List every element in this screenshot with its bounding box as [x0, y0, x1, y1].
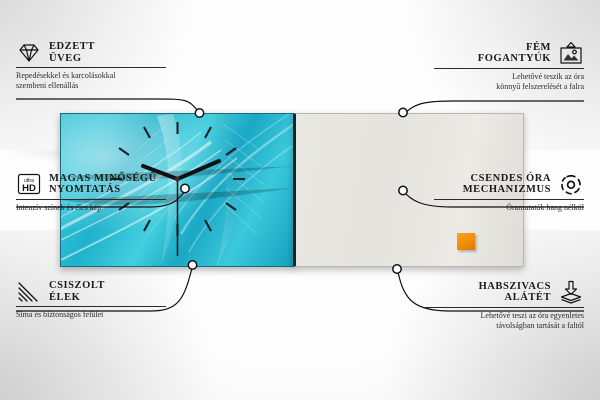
feature-silent-mechanism-title: CSENDES ÓRA MECHANIZMUS — [463, 173, 551, 196]
feature-high-quality-print: ultra HD MAGAS MINŐSÉGŰ NYOMTATÁS Intenz… — [16, 172, 166, 213]
minute-hand — [178, 161, 220, 179]
feature-metal-handles-title: FÉM FOGANTYÚK — [478, 42, 551, 65]
feature-divider — [16, 306, 166, 307]
feature-polished-edges-head: CSISZOLT ÉLEK — [16, 280, 166, 303]
feature-foam-pad-head: HABSZIVACS ALÁTÉT — [424, 280, 584, 304]
feature-metal-handles: FÉM FOGANTYÚK Lehetővé teszik az óra kön… — [434, 41, 584, 91]
feature-tempered-glass-desc2: szembeni ellenállás — [16, 81, 166, 91]
feature-high-quality-print-head: ultra HD MAGAS MINŐSÉGŰ NYOMTATÁS — [16, 172, 166, 196]
feature-tempered-glass-title: EDZETT ÜVEG — [49, 41, 95, 64]
feature-foam-pad-title: HABSZIVACS ALÁTÉT — [479, 281, 551, 304]
foam-pad-icon — [558, 280, 584, 304]
wire-tempered-glass — [16, 99, 198, 111]
feature-divider — [424, 307, 584, 308]
ultra-hd-icon-bottom-label: HD — [22, 183, 36, 194]
ultra-hd-icon: ultra HD — [16, 172, 42, 196]
feature-foam-pad-desc1: Lehetővé teszi az óra egyenletes — [424, 311, 584, 321]
bevelled-edge-icon — [16, 281, 42, 303]
hands-hub — [175, 176, 180, 181]
feature-divider — [434, 199, 584, 200]
feature-high-quality-print-title: MAGAS MINŐSÉGŰ NYOMTATÁS — [49, 173, 157, 196]
feature-silent-mechanism-desc1: Óramutatók hang nélkül — [434, 203, 584, 213]
feature-foam-pad-desc2: távolságban tartását a faltól — [424, 321, 584, 331]
feature-divider — [434, 68, 584, 69]
feature-foam-pad: HABSZIVACS ALÁTÉT Lehetővé teszi az óra … — [424, 280, 584, 330]
feature-silent-mechanism-head: CSENDES ÓRA MECHANIZMUS — [434, 172, 584, 196]
feature-divider — [16, 199, 166, 200]
foam-spacer-pad-part — [457, 233, 475, 250]
feature-polished-edges: CSISZOLT ÉLEK Sima és biztonságos felüle… — [16, 280, 166, 320]
feature-metal-handles-head: FÉM FOGANTYÚK — [434, 41, 584, 65]
feature-metal-handles-desc2: könnyű felszerelését a falra — [434, 82, 584, 92]
infographic-canvas: AA + — [0, 0, 600, 400]
feature-tempered-glass-desc1: Repedésekkel és karcolásokkal — [16, 71, 166, 81]
feature-divider — [16, 67, 166, 68]
feature-tempered-glass: EDZETT ÜVEG Repedésekkel és karcolásokka… — [16, 41, 166, 90]
feature-polished-edges-title: CSISZOLT ÉLEK — [49, 280, 105, 303]
diamond-icon — [16, 42, 42, 64]
wall-mount-frame-icon — [558, 41, 584, 65]
feature-high-quality-print-desc1: Intenzív színek és éles kép — [16, 203, 166, 213]
gear-icon — [558, 172, 584, 196]
feature-polished-edges-desc1: Sima és biztonságos felület — [16, 310, 166, 320]
feature-metal-handles-desc1: Lehetővé teszik az óra — [434, 72, 584, 82]
feature-tempered-glass-head: EDZETT ÜVEG — [16, 41, 166, 64]
feature-silent-mechanism: CSENDES ÓRA MECHANIZMUS Óramutatók hang … — [434, 172, 584, 213]
